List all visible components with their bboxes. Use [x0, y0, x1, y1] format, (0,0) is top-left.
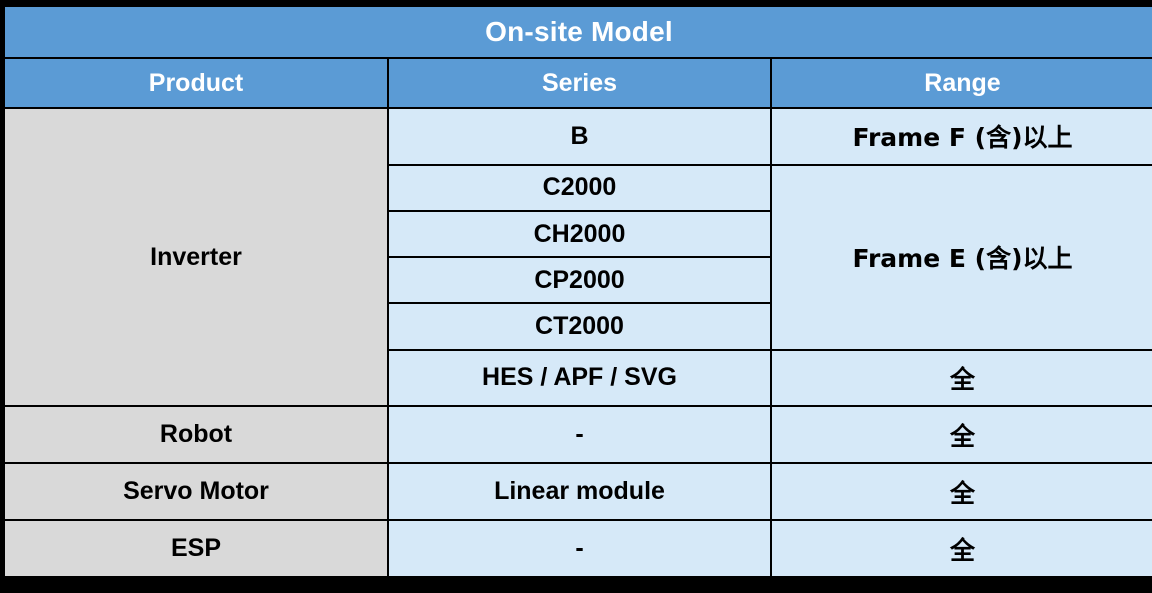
- table-row: Robot - 全: [5, 407, 1152, 462]
- column-header-range: Range: [772, 59, 1152, 107]
- series-cell-linear-module: Linear module: [389, 464, 770, 519]
- series-cell-b: B: [389, 109, 770, 164]
- range-cell-all-1: 全: [772, 351, 1152, 406]
- column-header-product: Product: [5, 59, 387, 107]
- series-cell-cp2000: CP2000: [389, 258, 770, 302]
- series-cell-ct2000: CT2000: [389, 304, 770, 348]
- on-site-model-table: On-site Model Product Series Range Inver…: [3, 5, 1152, 578]
- range-cell-all-3: 全: [772, 464, 1152, 519]
- range-cell-all-4: 全: [772, 521, 1152, 576]
- table-row: Inverter B Frame F (含)以上: [5, 109, 1152, 164]
- table-row: Servo Motor Linear module 全: [5, 464, 1152, 519]
- range-cell-all-2: 全: [772, 407, 1152, 462]
- range-cell-frame-e: Frame E (含)以上: [772, 166, 1152, 349]
- product-cell-robot: Robot: [5, 407, 387, 462]
- range-cell-frame-f: Frame F (含)以上: [772, 109, 1152, 164]
- series-cell-esp: -: [389, 521, 770, 576]
- table-frame: On-site Model Product Series Range Inver…: [0, 0, 1152, 593]
- table-row: ESP - 全: [5, 521, 1152, 576]
- series-cell-c2000: C2000: [389, 166, 770, 210]
- table-header-row: Product Series Range: [5, 59, 1152, 107]
- series-cell-ch2000: CH2000: [389, 212, 770, 256]
- column-header-series: Series: [389, 59, 770, 107]
- product-cell-servo-motor: Servo Motor: [5, 464, 387, 519]
- product-cell-inverter: Inverter: [5, 109, 387, 405]
- table-title-row: On-site Model: [5, 7, 1152, 57]
- product-cell-esp: ESP: [5, 521, 387, 576]
- series-cell-robot: -: [389, 407, 770, 462]
- series-cell-hes-apf-svg: HES / APF / SVG: [389, 351, 770, 406]
- table-title: On-site Model: [5, 7, 1152, 57]
